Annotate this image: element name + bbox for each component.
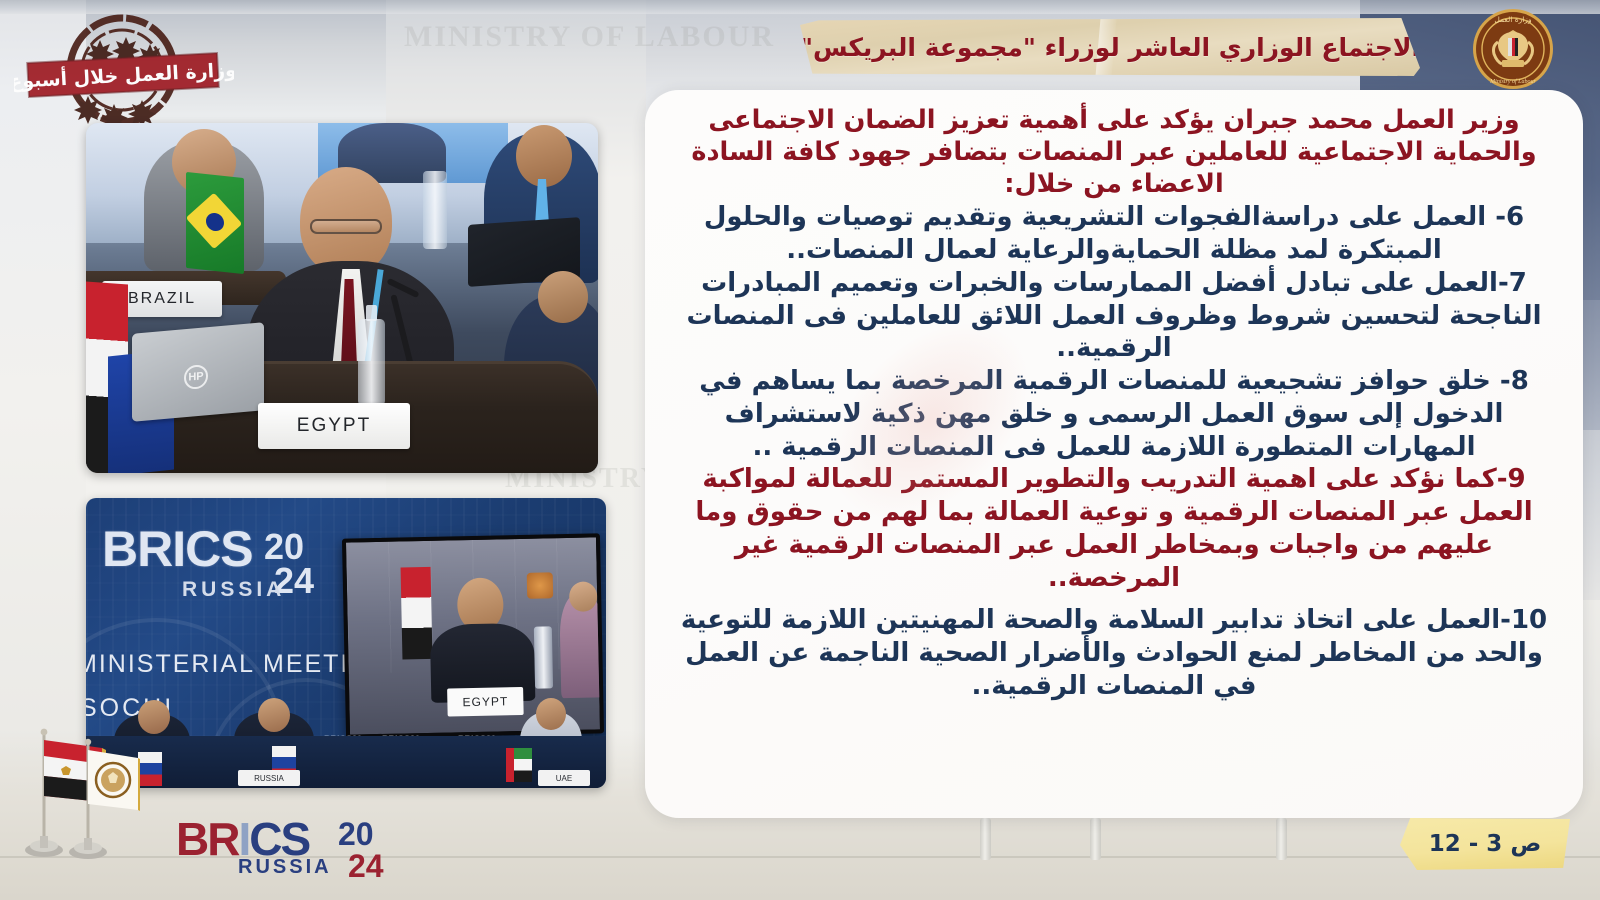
photo-brics-ministerial-hall: BRICS 20 24 RUSSIA MINISTERIAL MEETING S…	[86, 498, 606, 788]
brics-letter-b: B	[176, 813, 207, 865]
statement-item-6: 6- العمل على دراسةالفجوات التشريعية وتقد…	[671, 201, 1557, 267]
page-number-label: ص 3 - 12	[1429, 831, 1542, 857]
photo2-delegate-1-head	[138, 700, 170, 734]
statement-intro: وزير العمل محمد جبران يؤكد على أهمية تعز…	[671, 104, 1557, 200]
statement-panel: وزير العمل محمد جبران يؤكد على أهمية تعز…	[645, 90, 1583, 818]
background-pole-1	[980, 818, 991, 860]
photo-minister-at-brics-table: BRAZIL HP EGYPT	[86, 123, 598, 473]
statement-item-7: 7-العمل على تبادل أفضل الممارسات والخبرا…	[671, 267, 1557, 365]
photo2-brics-wordmark: BRICS	[102, 520, 362, 586]
svg-text:Ministry of Labour: Ministry of Labour	[1489, 78, 1536, 85]
svg-text:وزارة العمل: وزارة العمل	[1494, 15, 1532, 24]
photo2-nameplate-russia: RUSSIA	[238, 770, 300, 786]
photo2-delegate-3-head	[536, 698, 566, 730]
screen-water-bottle	[534, 626, 553, 688]
screen-egypt-flag-icon	[401, 567, 433, 660]
background-pole-2	[1090, 818, 1101, 860]
page-number-badge: ص 3 - 12	[1400, 818, 1570, 870]
russia-flag-icon-1	[138, 752, 162, 786]
photo2-nameplate-uae: UAE	[538, 770, 590, 786]
desk-flag-stands	[14, 718, 140, 876]
photo2-delegate-2-head	[258, 698, 290, 732]
brazil-flag-icon	[186, 172, 244, 274]
photo2-country-label: RUSSIA	[182, 578, 285, 602]
statement-item-8: 8- خلق حوافز تشجيعية للمنصات الرقمية الم…	[671, 365, 1557, 463]
background-ceiling-band	[0, 0, 1600, 14]
nameplate-egypt: EGYPT	[258, 403, 410, 449]
photo1-bg-head-4	[538, 271, 588, 323]
banner-title-text: الاجتماع الوزاري العاشر لوزراء "مجموعة ا…	[800, 33, 1420, 62]
screen-orange-light	[527, 572, 554, 599]
watermark-ministry-top: MINISTRY OF LABOUR	[404, 20, 775, 54]
brics-letter-r: R	[207, 813, 238, 865]
photo1-water-bottle	[358, 319, 385, 405]
photo1-bg-head-2	[516, 125, 572, 187]
ministry-week-stamp: وزارة العمل خلال أسبوع	[14, 4, 234, 139]
statement-item-9: 9-كما نؤكد على اهمية التدريب والتطوير ال…	[671, 463, 1557, 594]
ministry-of-labour-seal-icon: وزارة العمل Ministry of Labour	[1472, 8, 1554, 90]
screen-nameplate-egypt: EGYPT	[447, 687, 524, 717]
title-banner: الاجتماع الوزاري العاشر لوزراء "مجموعة ا…	[800, 18, 1420, 76]
brics-logo-country: RUSSIA	[238, 856, 332, 879]
brics-2024-russia-logo: BRICS 20 24 RUSSIA	[176, 812, 420, 888]
uae-flag-icon	[506, 748, 532, 782]
brics-logo-year-24: 24	[348, 848, 384, 885]
photo1-water-bottle-back	[423, 171, 447, 249]
background-pole-3	[1276, 818, 1287, 860]
glasses-icon	[310, 219, 382, 234]
statement-item-10: 10-العمل على اتخاذ تدابير السلامة والصحة…	[671, 604, 1557, 702]
